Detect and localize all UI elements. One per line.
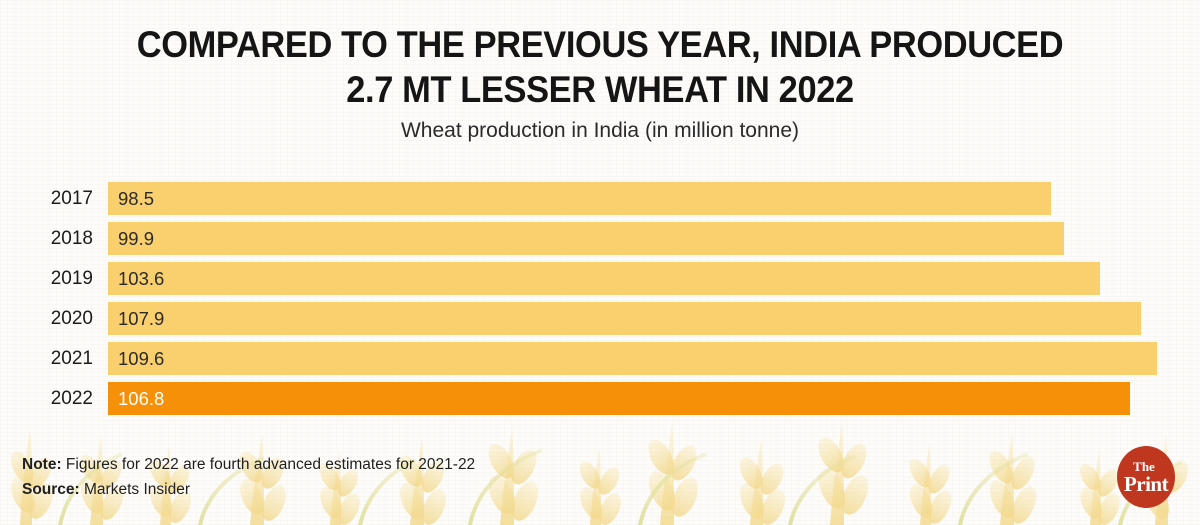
bar-2018: 99.9 — [108, 222, 1064, 255]
bar-value-2019: 103.6 — [118, 262, 164, 295]
bar-2019: 103.6 — [108, 262, 1100, 295]
logo-print-text: Print — [1124, 474, 1168, 495]
bar-row: 2019103.6 — [0, 262, 1200, 295]
logo-the-text: The — [1133, 460, 1155, 473]
bar-row: 2022106.8 — [0, 382, 1200, 415]
source-label: Source: — [22, 481, 80, 498]
bar-row: 2020107.9 — [0, 302, 1200, 335]
logo-circle: The Print — [1117, 446, 1175, 508]
year-label-2020: 2020 — [0, 302, 93, 335]
year-label-2019: 2019 — [0, 262, 93, 295]
note-text: Figures for 2022 are fourth advanced est… — [62, 456, 476, 473]
source-line: Source: Markets Insider — [22, 477, 475, 502]
bar-value-2018: 99.9 — [118, 222, 154, 255]
year-label-2018: 2018 — [0, 222, 93, 255]
chart-subtitle: Wheat production in India (in million to… — [0, 119, 1200, 143]
bar-row: 201899.9 — [0, 222, 1200, 255]
footnotes: Note: Figures for 2022 are fourth advanc… — [22, 452, 475, 502]
bar-2020: 107.9 — [108, 302, 1141, 335]
note-line: Note: Figures for 2022 are fourth advanc… — [22, 452, 475, 477]
bar-row: 201798.5 — [0, 182, 1200, 215]
bar-row: 2021109.6 — [0, 342, 1200, 375]
year-label-2017: 2017 — [0, 182, 93, 215]
source-text: Markets Insider — [80, 481, 190, 498]
bar-value-2022: 106.8 — [118, 382, 164, 415]
bar-value-2021: 109.6 — [118, 342, 164, 375]
bar-2017: 98.5 — [108, 182, 1051, 215]
note-label: Note: — [22, 456, 62, 473]
bar-2022: 106.8 — [108, 382, 1130, 415]
bar-value-2017: 98.5 — [118, 182, 154, 215]
theprint-logo: The Print — [1117, 446, 1175, 508]
bar-chart: 201798.5201899.92019103.62020107.9202110… — [0, 182, 1200, 424]
chart-title: COMPARED TO THE PREVIOUS YEAR, INDIA PRO… — [42, 22, 1158, 112]
year-label-2022: 2022 — [0, 382, 93, 415]
bar-value-2020: 107.9 — [118, 302, 164, 335]
bar-2021: 109.6 — [108, 342, 1157, 375]
year-label-2021: 2021 — [0, 342, 93, 375]
